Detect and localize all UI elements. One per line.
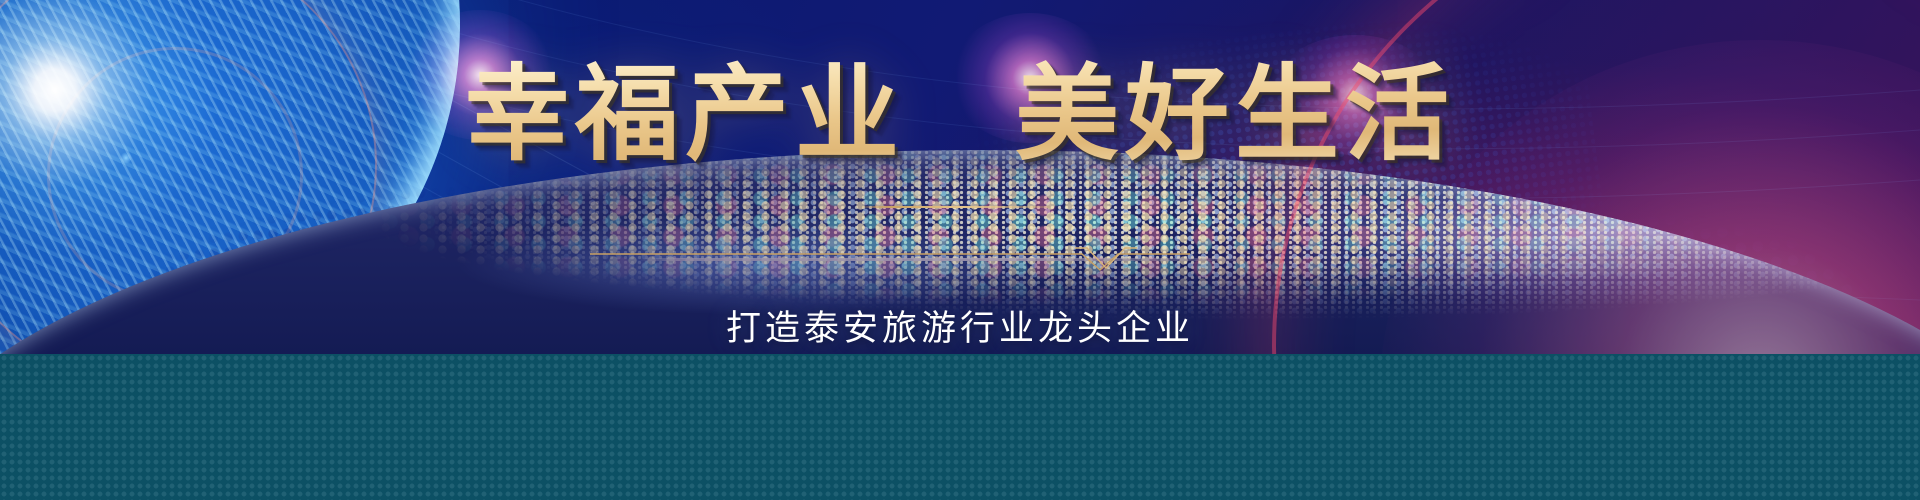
banner-subtitle: 打造泰安旅游行业龙头企业 <box>0 300 1920 351</box>
banner-title: 幸福产业 美好生活 <box>465 58 1455 170</box>
hero-banner: 幸福产业 美好生活 打造泰安旅游行业龙头企业 <box>0 0 1920 500</box>
bottom-band-texture <box>0 354 1920 500</box>
banner-title-wrap: 幸福产业 美好生活 <box>0 58 1920 170</box>
gold-divider-chevron-icon <box>590 246 1190 272</box>
title-underline-accent <box>855 206 1050 208</box>
bottom-teal-band <box>0 354 1920 500</box>
